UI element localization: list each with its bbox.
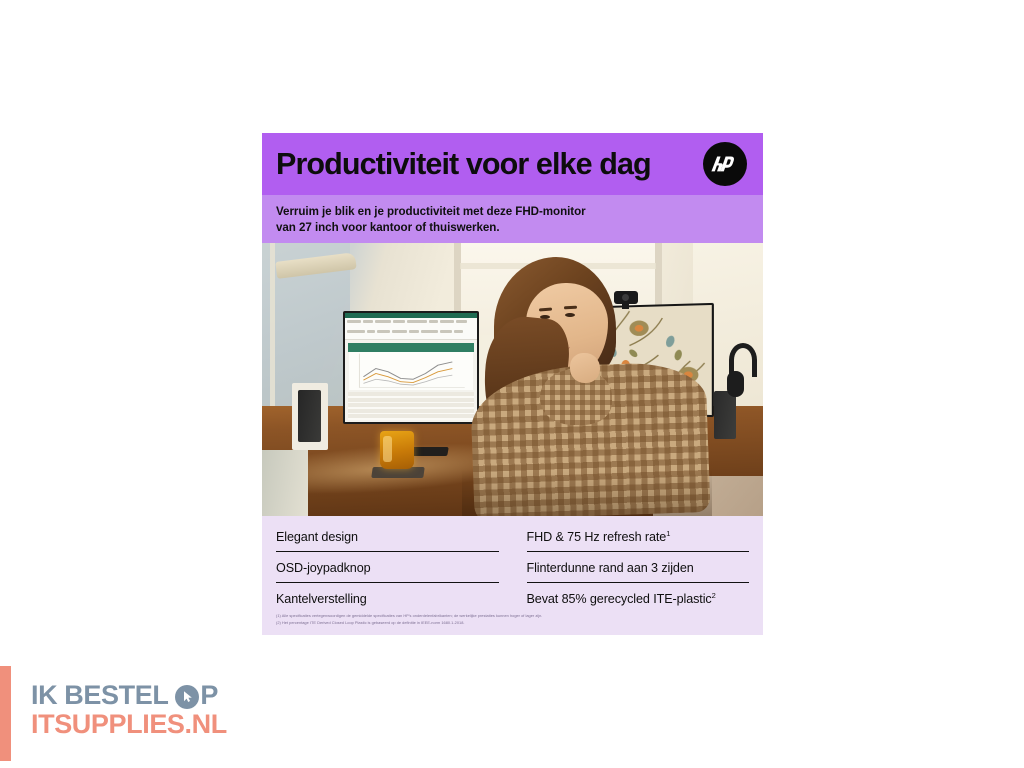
footnote-marker: 2 xyxy=(712,591,716,600)
photo-headset xyxy=(723,343,761,405)
photo-person-eye-right xyxy=(565,313,575,317)
feature-text: Bevat 85% gerecycled ITE-plastic xyxy=(527,593,712,607)
photo-person-hand xyxy=(570,353,600,383)
photo-speaker-left xyxy=(298,390,321,442)
photo-person xyxy=(462,257,712,516)
subhead-band: Verruim je blik en je productiviteit met… xyxy=(262,195,763,243)
brand-accent-bar xyxy=(0,666,11,761)
photo-spreadsheet-screen xyxy=(345,313,477,422)
photo-bottom-shadow xyxy=(462,470,712,516)
footnote-2: (2) Het percentage ITE Derived Closed Lo… xyxy=(276,620,749,627)
feature-item: Elegant design xyxy=(276,528,499,552)
feature-item: Flinterdunne rand aan 3 zijden xyxy=(527,559,750,583)
photo-spreadsheet-data-rows xyxy=(348,392,474,420)
photo-amber-glass xyxy=(380,431,414,469)
footnote-1: (1) Alle specificaties vertegenwoordigen… xyxy=(276,613,749,620)
footnote-block: (1) Alle specificaties vertegenwoordigen… xyxy=(276,613,749,627)
brand-line-one-suffix: P xyxy=(200,681,218,710)
footnote-marker: 1 xyxy=(666,529,670,538)
brand-line-one: IK BESTEL P xyxy=(31,681,227,710)
page-title: Productiviteit voor elke dag xyxy=(276,149,703,180)
feature-item: FHD & 75 Hz refresh rate1 xyxy=(527,528,750,552)
photo-headset-earcup xyxy=(727,371,744,397)
photo-monitor-left xyxy=(343,311,479,424)
brand-line-two: ITSUPPLIES.NL xyxy=(31,710,227,739)
hp-logo-icon xyxy=(703,142,747,186)
brand-wordmark: IK BESTEL P ITSUPPLIES.NL xyxy=(31,666,227,761)
itsupplies-brand-logo[interactable]: IK BESTEL P ITSUPPLIES.NL xyxy=(0,666,240,761)
product-promo-card: Productiviteit voor elke dag Verruim je … xyxy=(262,133,763,635)
feature-item: Bevat 85% gerecycled ITE-plastic2 xyxy=(527,590,750,613)
photo-spreadsheet-ribbon xyxy=(345,318,477,340)
feature-item: Kantelverstelling xyxy=(276,590,499,613)
feature-text: Flinterdunne rand aan 3 zijden xyxy=(527,561,694,575)
brand-line-one-text: IK BESTEL xyxy=(31,681,168,710)
feature-text: FHD & 75 Hz refresh rate xyxy=(527,530,667,544)
photo-spreadsheet-header-row xyxy=(348,343,474,352)
headline-band: Productiviteit voor elke dag xyxy=(262,133,763,195)
photo-desk-front-panel xyxy=(262,450,308,516)
product-photo xyxy=(262,243,763,516)
product-description: Verruim je blik en je productiviteit met… xyxy=(276,204,749,237)
cursor-arrow-icon xyxy=(175,685,199,709)
feature-item: OSD-joypadknop xyxy=(276,559,499,583)
photo-spreadsheet-chart xyxy=(349,352,473,390)
